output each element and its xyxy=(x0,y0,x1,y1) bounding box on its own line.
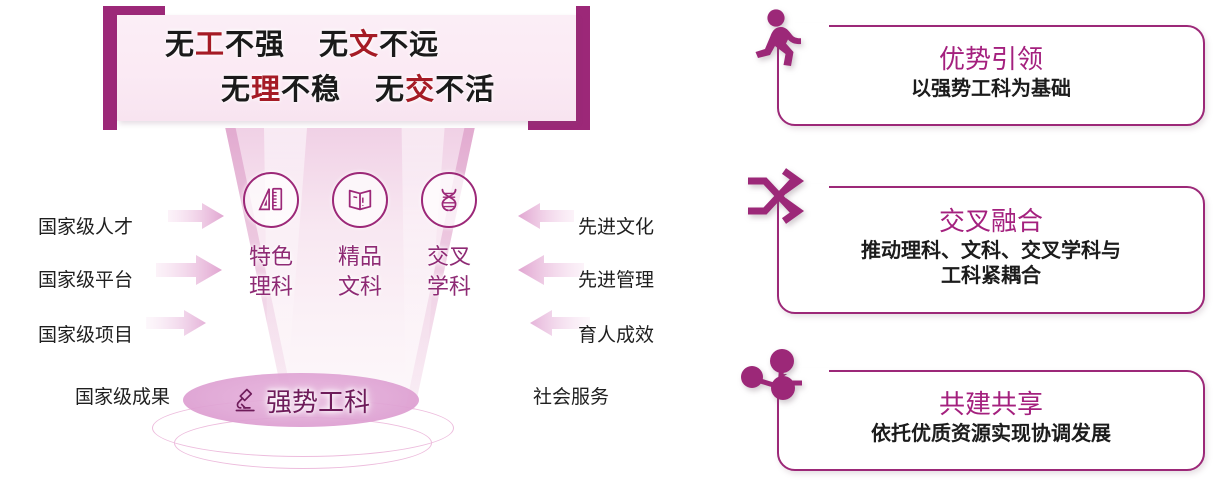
input-arrow-1 xyxy=(168,203,224,234)
card-title: 共建共享 xyxy=(939,389,1043,420)
banner-body: 无工不强无文不远 无理不稳无交不活 xyxy=(117,15,576,121)
input-label-2: 国家级平台 xyxy=(38,265,133,292)
pillar-interdisciplinary: 交叉 学科 xyxy=(413,172,485,362)
output-label-3: 育人成效 xyxy=(578,320,654,347)
slogan-line-1: 无工不强无文不远 xyxy=(117,23,576,68)
output-arrow-1 xyxy=(518,203,574,234)
banner-bracket-left-top xyxy=(103,6,165,15)
pillar-label-bottom: 学科 xyxy=(427,274,471,299)
ruler-triangle-icon xyxy=(243,172,299,228)
pillar-label: 特色 理科 xyxy=(235,242,307,303)
input-arrow-3 xyxy=(146,310,206,341)
slogan-char: 无 xyxy=(165,29,195,61)
card-text: 共建共享 依托优质资源实现协调发展 xyxy=(795,372,1187,465)
slogan-line-2: 无理不稳无交不活 xyxy=(117,68,576,113)
card-subtitle: 以强势工科为基础 xyxy=(911,77,1071,103)
card-subtitle-line: 依托优质资源实现协调发展 xyxy=(871,422,1111,448)
slogan-char: 不强 xyxy=(225,29,285,61)
card-subtitle: 依托优质资源实现协调发展 xyxy=(871,422,1111,448)
banner-bracket-right xyxy=(576,6,590,130)
pillar-humanities: 精品 文科 xyxy=(324,172,396,362)
slogan-char: 无 xyxy=(375,74,405,106)
pillar-label-bottom: 文科 xyxy=(338,274,382,299)
slogan-char: 不稳 xyxy=(281,74,341,106)
output-label-4: 社会服务 xyxy=(533,382,609,409)
card-text: 交叉融合 推动理科、文科、交叉学科与 工科紧耦合 xyxy=(795,188,1187,308)
slogan-banner: 无工不强无文不远 无理不稳无交不活 xyxy=(103,6,590,130)
open-book-icon xyxy=(332,172,388,228)
microscope-icon xyxy=(232,386,260,414)
banner-bracket-left xyxy=(103,6,117,130)
card-subtitle-line: 以强势工科为基础 xyxy=(911,77,1071,103)
strategy-card-list: 优势引领 以强势工科为基础 交叉融合 推动理科、文 xyxy=(735,0,1215,493)
input-arrow-2 xyxy=(156,255,222,290)
output-label-1: 先进文化 xyxy=(578,212,654,239)
card-subtitle-line: 推动理科、文科、交叉学科与 xyxy=(861,239,1121,265)
card-title: 交叉融合 xyxy=(939,206,1043,237)
input-label-1: 国家级人才 xyxy=(38,212,133,239)
pillar-label: 交叉 学科 xyxy=(413,242,485,303)
slogan-highlight-char: 理 xyxy=(251,74,281,106)
base-label-group: 强势工科 xyxy=(183,373,419,427)
slogan-highlight-char: 交 xyxy=(405,74,435,106)
slogan-highlight-char: 工 xyxy=(195,29,225,61)
input-label-3: 国家级项目 xyxy=(38,320,133,347)
slogan-char: 无 xyxy=(319,29,349,61)
discipline-pillars: 特色 理科 精品 文科 xyxy=(235,172,485,362)
slogan-highlight-char: 文 xyxy=(349,29,379,61)
slogan-char: 不远 xyxy=(379,29,439,61)
card-text: 优势引领 以强势工科为基础 xyxy=(795,27,1187,120)
base-label-text: 强势工科 xyxy=(266,382,370,419)
pillar-label-bottom: 理科 xyxy=(249,274,293,299)
output-label-2: 先进管理 xyxy=(578,265,654,292)
pillar-label: 精品 文科 xyxy=(324,242,396,303)
pillar-label-top: 精品 xyxy=(338,244,382,269)
pillar-label-top: 交叉 xyxy=(427,244,471,269)
pillar-science: 特色 理科 xyxy=(235,172,307,362)
dna-helix-icon xyxy=(421,172,477,228)
slogan-char: 无 xyxy=(221,74,251,106)
output-arrow-2 xyxy=(518,255,584,290)
card-subtitle-line: 工科紧耦合 xyxy=(861,264,1121,290)
card-title: 优势引领 xyxy=(939,44,1043,75)
input-label-4: 国家级成果 xyxy=(75,382,170,409)
infographic-root: 无工不强无文不远 无理不稳无交不活 特色 xyxy=(0,0,1215,493)
pillar-label-top: 特色 xyxy=(249,244,293,269)
card-subtitle: 推动理科、文科、交叉学科与 工科紧耦合 xyxy=(861,239,1121,290)
slogan-char: 不活 xyxy=(435,74,495,106)
banner-lines: 无工不强无文不远 无理不稳无交不活 xyxy=(117,15,576,121)
